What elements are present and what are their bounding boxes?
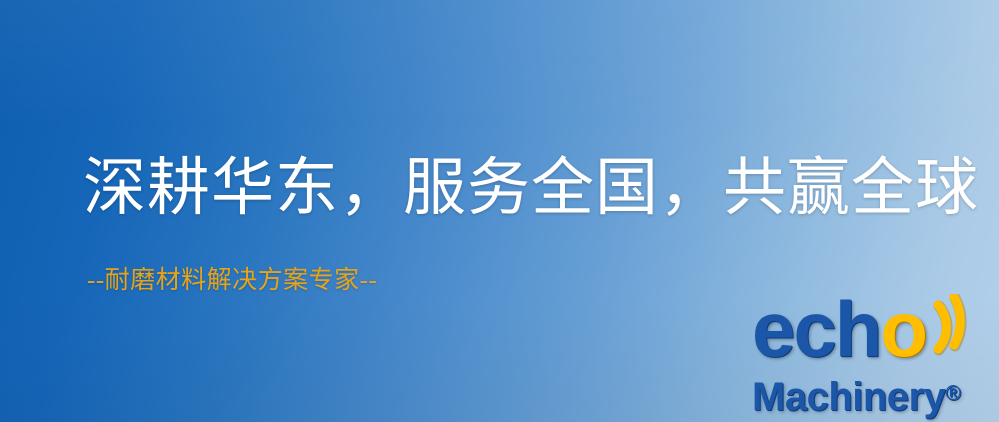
echo-signal-arcs-icon	[929, 294, 995, 356]
banner-subtitle: --耐磨材料解决方案专家--	[87, 266, 377, 296]
logo-wordmark-row: echo	[748, 296, 998, 370]
banner-headline: 深耕华东，服务全国，共赢全球	[83, 152, 943, 224]
logo-text-machinery: Machinery	[752, 375, 945, 419]
logo-brand-machinery: Machinery®	[752, 372, 961, 419]
company-logo[interactable]: echo Machinery®	[748, 296, 998, 422]
logo-text-o: o	[880, 285, 926, 373]
hero-banner: 深耕华东，服务全国，共赢全球 --耐磨材料解决方案专家-- echo Machi…	[0, 0, 999, 422]
registered-trademark-icon: ®	[945, 382, 960, 405]
logo-text-ech: ech	[752, 285, 880, 373]
logo-wordmark-echo: echo	[752, 290, 926, 368]
